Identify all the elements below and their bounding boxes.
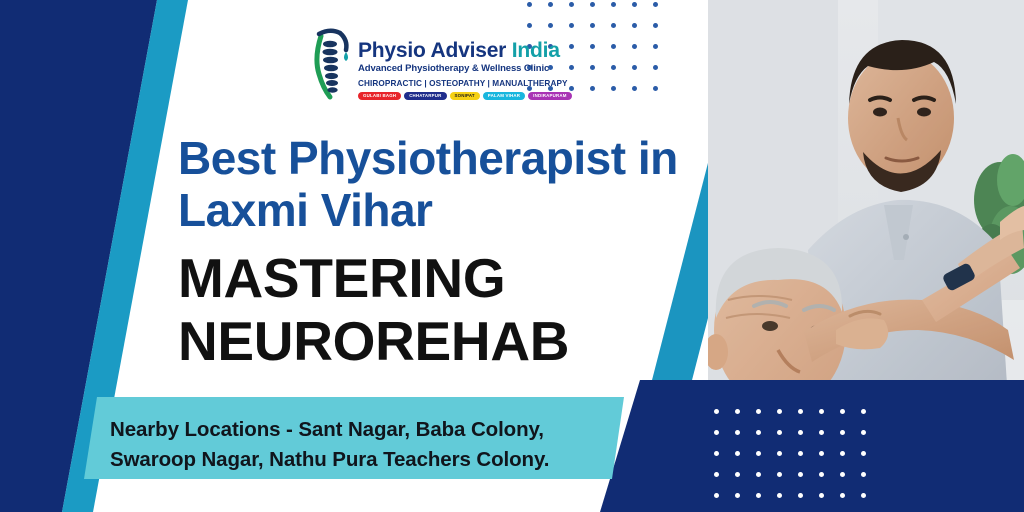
grid-dot [653,65,658,70]
grid-dot [798,430,803,435]
grid-dot [590,44,595,49]
grid-dot [756,451,761,456]
grid-dot [590,65,595,70]
grid-dot [569,2,574,7]
grid-dot [735,409,740,414]
grid-dot [735,451,740,456]
grid-dot [611,86,616,91]
grid-dot [590,23,595,28]
grid-dot [632,44,637,49]
grid-dot [632,2,637,7]
grid-dot [777,472,782,477]
grid-dot [798,493,803,498]
grid-dot [777,409,782,414]
clinic-logo[interactable]: Physio Adviser India Advanced Physiother… [310,24,525,106]
grid-dot [819,451,824,456]
grid-dot [798,409,803,414]
grid-dot [632,23,637,28]
grid-dot [819,493,824,498]
grid-dot [777,493,782,498]
grid-dot [735,493,740,498]
logo-badge: PALAM VIHAR [483,92,525,100]
spine-icon [310,24,358,100]
grid-dot [756,409,761,414]
grid-dot [653,2,658,7]
nearby-line2: Swaroop Nagar, Nathu Pura Teachers Colon… [110,445,610,475]
logo-title-part1: Physio Adviser [358,39,506,62]
logo-location-badges: GULABI BAGHCHHATARPURSONIPATPALAM VIHARI… [358,92,572,100]
logo-badge: SONIPAT [450,92,480,100]
grid-dot [653,44,658,49]
grid-dot [611,65,616,70]
grid-dot [840,472,845,477]
grid-dot [714,472,719,477]
logo-title-part2: India [506,39,560,62]
grid-dot [840,493,845,498]
grid-dot [527,2,532,7]
footer-navy-block [600,380,1024,512]
grid-dot [777,430,782,435]
grid-dot [861,451,866,456]
grid-dot [714,409,719,414]
grid-dot [735,472,740,477]
grid-dot [840,430,845,435]
logo-badge: GULABI BAGH [358,92,401,100]
grid-dot [548,2,553,7]
grid-dot [756,493,761,498]
headline-black: MASTERING NEUROREHAB [178,247,648,372]
grid-dot [798,451,803,456]
grid-dot [714,493,719,498]
logo-services: CHIROPRACTIC | OSTEOPATHY | MANUALTHERAP… [358,79,572,88]
grid-dot [756,472,761,477]
grid-dot [714,430,719,435]
grid-dot [590,86,595,91]
grid-dot [777,451,782,456]
grid-dot [861,472,866,477]
headline-blue-line2: Laxmi Vihar [178,185,678,237]
grid-dot [632,86,637,91]
grid-dot [798,472,803,477]
grid-dot [611,23,616,28]
grid-dot [735,430,740,435]
logo-badge: CHHATARPUR [404,92,446,100]
grid-dot [611,44,616,49]
grid-dot [653,86,658,91]
grid-dot [653,23,658,28]
headline-blue-line1: Best Physiotherapist in [178,133,678,185]
logo-subtitle: Advanced Physiotherapy & Wellness Clinic [358,63,572,74]
grid-dot [861,493,866,498]
headline-black-line2: NEUROREHAB [178,310,648,373]
grid-dot [819,409,824,414]
nearby-locations-text: Nearby Locations - Sant Nagar, Baba Colo… [110,415,610,474]
grid-dot [611,2,616,7]
nearby-line1: Nearby Locations - Sant Nagar, Baba Colo… [110,415,610,445]
grid-dot [756,430,761,435]
grid-dot [714,451,719,456]
grid-dot [590,2,595,7]
grid-dot [840,409,845,414]
logo-badge: INDIRAPURAM [528,92,571,100]
marketing-banner: Physio Adviser India Advanced Physiother… [0,0,1024,512]
grid-dot [861,430,866,435]
grid-dot [819,472,824,477]
logo-title: Physio Adviser India [358,40,572,61]
grid-dot [840,451,845,456]
grid-dot [819,430,824,435]
grid-dot [861,409,866,414]
page-title: Best Physiotherapist in Laxmi Vihar [178,133,678,236]
headline-black-line1: MASTERING [178,247,648,310]
grid-dot [632,65,637,70]
